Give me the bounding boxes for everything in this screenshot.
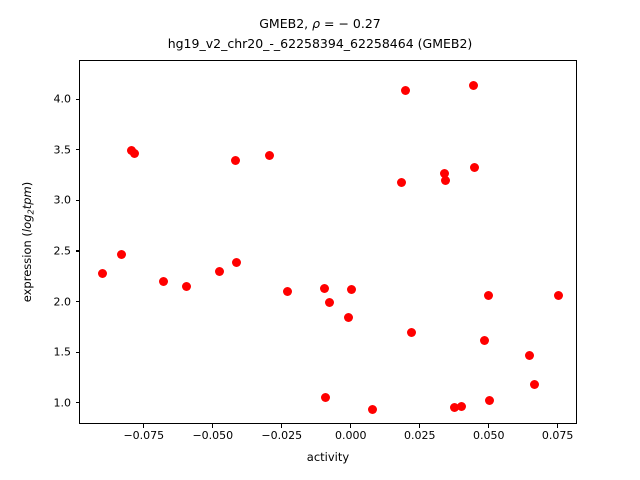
scatter-point bbox=[232, 258, 241, 267]
x-axis-tick-label: 0.075 bbox=[542, 429, 574, 442]
chart-title-gene: GMEB2, bbox=[259, 16, 312, 31]
y-axis-tick-label: 1.0 bbox=[54, 396, 72, 409]
y-axis-label-prefix: expression ( bbox=[20, 232, 34, 302]
chart-title-rho-symbol: ρ bbox=[312, 16, 320, 31]
scatter-point bbox=[231, 156, 240, 165]
y-axis-label-base: 2 bbox=[25, 209, 35, 214]
x-axis-tick-label: −0.025 bbox=[261, 429, 302, 442]
scatter-point bbox=[525, 351, 534, 360]
scatter-point bbox=[484, 291, 493, 300]
y-axis-label: expression (log2tpm) bbox=[18, 60, 36, 424]
x-axis-tick-mark bbox=[488, 424, 489, 428]
x-axis-label: activity bbox=[79, 450, 577, 464]
x-axis-tick-label: −0.050 bbox=[192, 429, 233, 442]
y-axis-label-suffix: ) bbox=[20, 182, 34, 187]
y-axis-tick-mark bbox=[76, 250, 80, 251]
scatter-point bbox=[344, 313, 353, 322]
scatter-point bbox=[554, 291, 563, 300]
y-axis-tick-mark bbox=[76, 301, 80, 302]
scatter-point bbox=[283, 287, 292, 296]
scatter-point bbox=[407, 328, 416, 337]
scatter-point bbox=[117, 250, 126, 259]
scatter-point bbox=[215, 267, 224, 276]
chart-title-line-2: hg19_v2_chr20_-_62258394_62258464 (GMEB2… bbox=[0, 34, 640, 54]
chart-title-rho-value: = − 0.27 bbox=[320, 16, 381, 31]
scatter-point bbox=[347, 285, 356, 294]
scatter-plot-figure: GMEB2, ρ = − 0.27 hg19_v2_chr20_-_622583… bbox=[0, 0, 640, 480]
y-axis-tick-mark bbox=[76, 352, 80, 353]
y-axis-tick-label: 3.0 bbox=[54, 194, 72, 207]
scatter-point bbox=[130, 149, 139, 158]
x-axis-tick-mark bbox=[212, 424, 213, 428]
scatter-point bbox=[485, 396, 494, 405]
chart-title: GMEB2, ρ = − 0.27 hg19_v2_chr20_-_622583… bbox=[0, 14, 640, 54]
y-axis-label-unit: tpm bbox=[20, 186, 34, 209]
y-axis-tick-label: 3.5 bbox=[54, 143, 72, 156]
x-axis-tick-label: 0.000 bbox=[335, 429, 367, 442]
x-axis-tick-mark bbox=[419, 424, 420, 428]
scatter-point bbox=[368, 405, 377, 414]
y-axis-tick-mark bbox=[76, 402, 80, 403]
y-axis-tick-mark bbox=[76, 149, 80, 150]
y-axis-tick-mark bbox=[76, 99, 80, 100]
x-axis-tick-mark bbox=[281, 424, 282, 428]
y-axis-tick-label: 4.0 bbox=[54, 93, 72, 106]
x-axis-tick-mark bbox=[143, 424, 144, 428]
plot-axes-frame bbox=[79, 60, 577, 424]
x-axis-tick-label: −0.075 bbox=[123, 429, 164, 442]
y-axis-tick-mark bbox=[76, 200, 80, 201]
plot-data-area bbox=[80, 61, 576, 423]
scatter-point bbox=[457, 402, 466, 411]
y-axis-label-log: log bbox=[20, 215, 34, 233]
scatter-point bbox=[480, 336, 489, 345]
scatter-point bbox=[401, 86, 410, 95]
scatter-point bbox=[159, 277, 168, 286]
y-axis-tick-label: 1.5 bbox=[54, 346, 72, 359]
scatter-point bbox=[98, 269, 107, 278]
scatter-point bbox=[182, 282, 191, 291]
scatter-point bbox=[325, 298, 334, 307]
scatter-point bbox=[321, 393, 330, 402]
x-axis-tick-mark bbox=[350, 424, 351, 428]
scatter-point bbox=[470, 163, 479, 172]
scatter-point bbox=[320, 284, 329, 293]
x-axis-tick-mark bbox=[557, 424, 558, 428]
y-axis-tick-label: 2.5 bbox=[54, 244, 72, 257]
x-axis-tick-label: 0.050 bbox=[473, 429, 505, 442]
scatter-point bbox=[530, 380, 539, 389]
y-axis-tick-label: 2.0 bbox=[54, 295, 72, 308]
x-axis-tick-label: 0.025 bbox=[404, 429, 436, 442]
scatter-point bbox=[441, 176, 450, 185]
scatter-point bbox=[469, 81, 478, 90]
scatter-point bbox=[397, 178, 406, 187]
scatter-point bbox=[265, 151, 274, 160]
chart-title-line-1: GMEB2, ρ = − 0.27 bbox=[0, 14, 640, 34]
